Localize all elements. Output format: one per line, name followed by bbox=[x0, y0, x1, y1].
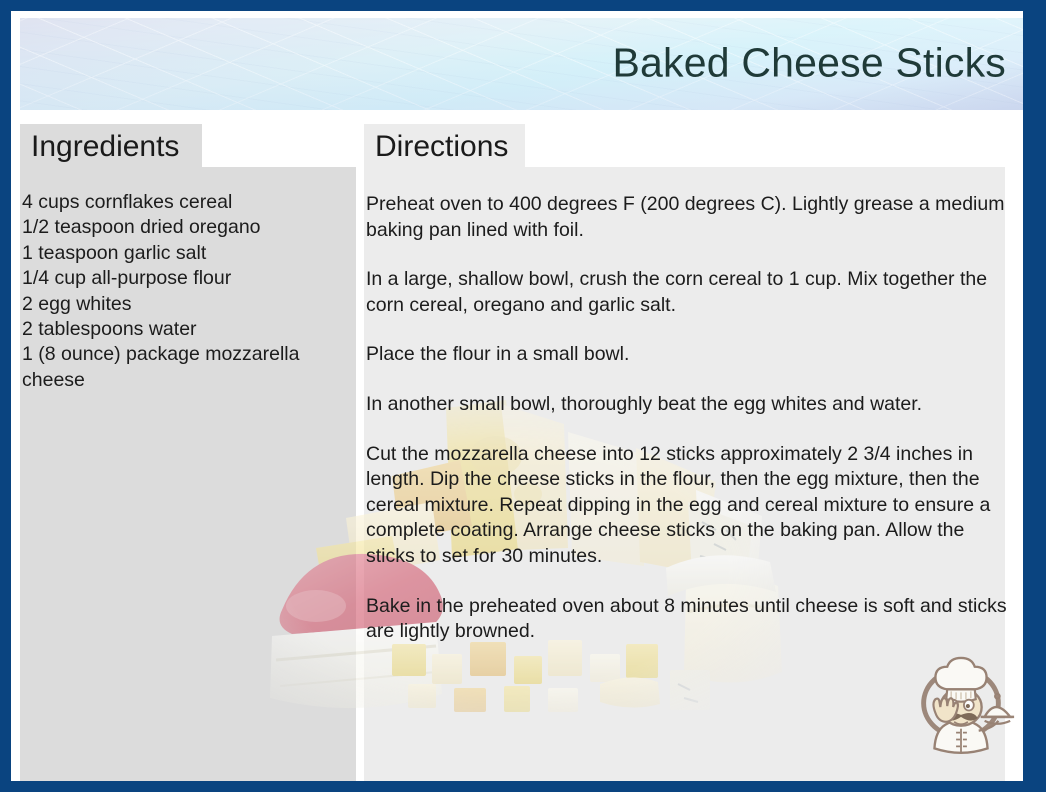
list-item: 4 cups cornflakes cereal bbox=[22, 190, 340, 215]
ingredients-heading-tab: Ingredients bbox=[20, 124, 202, 167]
direction-step: Preheat oven to 400 degrees F (200 degre… bbox=[366, 192, 1010, 243]
directions-steps: Preheat oven to 400 degrees F (200 degre… bbox=[366, 192, 1010, 645]
frame-border-right bbox=[1023, 0, 1046, 792]
page-title: Baked Cheese Sticks bbox=[612, 40, 1006, 87]
list-item: 1 (8 ounce) package mozzarella cheese bbox=[22, 342, 340, 393]
list-item: 1/2 teaspoon dried oregano bbox=[22, 215, 340, 240]
directions-heading-tab: Directions bbox=[364, 124, 525, 167]
ingredients-list: 4 cups cornflakes cereal 1/2 teaspoon dr… bbox=[22, 190, 340, 393]
list-item: 2 tablespoons water bbox=[22, 317, 340, 342]
frame-border-bottom bbox=[0, 781, 1046, 792]
direction-step: In another small bowl, thoroughly beat t… bbox=[366, 392, 1010, 418]
direction-step: Bake in the preheated oven about 8 minut… bbox=[366, 594, 1010, 645]
list-item: 1/4 cup all-purpose flour bbox=[22, 266, 340, 291]
direction-step: Place the flour in a small bowl. bbox=[366, 342, 1010, 368]
chef-mascot-logo bbox=[902, 652, 1020, 770]
recipe-slide: Baked Cheese Sticks Ingredients Directio… bbox=[0, 0, 1046, 792]
frame-border-left bbox=[0, 0, 11, 792]
direction-step: Cut the mozzarella cheese into 12 sticks… bbox=[366, 442, 1010, 570]
header-banner: Baked Cheese Sticks bbox=[20, 18, 1028, 110]
list-item: 1 teaspoon garlic salt bbox=[22, 241, 340, 266]
frame-border-top bbox=[0, 0, 1046, 11]
direction-step: In a large, shallow bowl, crush the corn… bbox=[366, 267, 1010, 318]
list-item: 2 egg whites bbox=[22, 292, 340, 317]
directions-heading-label: Directions bbox=[375, 130, 508, 164]
ingredients-heading-label: Ingredients bbox=[31, 130, 179, 164]
